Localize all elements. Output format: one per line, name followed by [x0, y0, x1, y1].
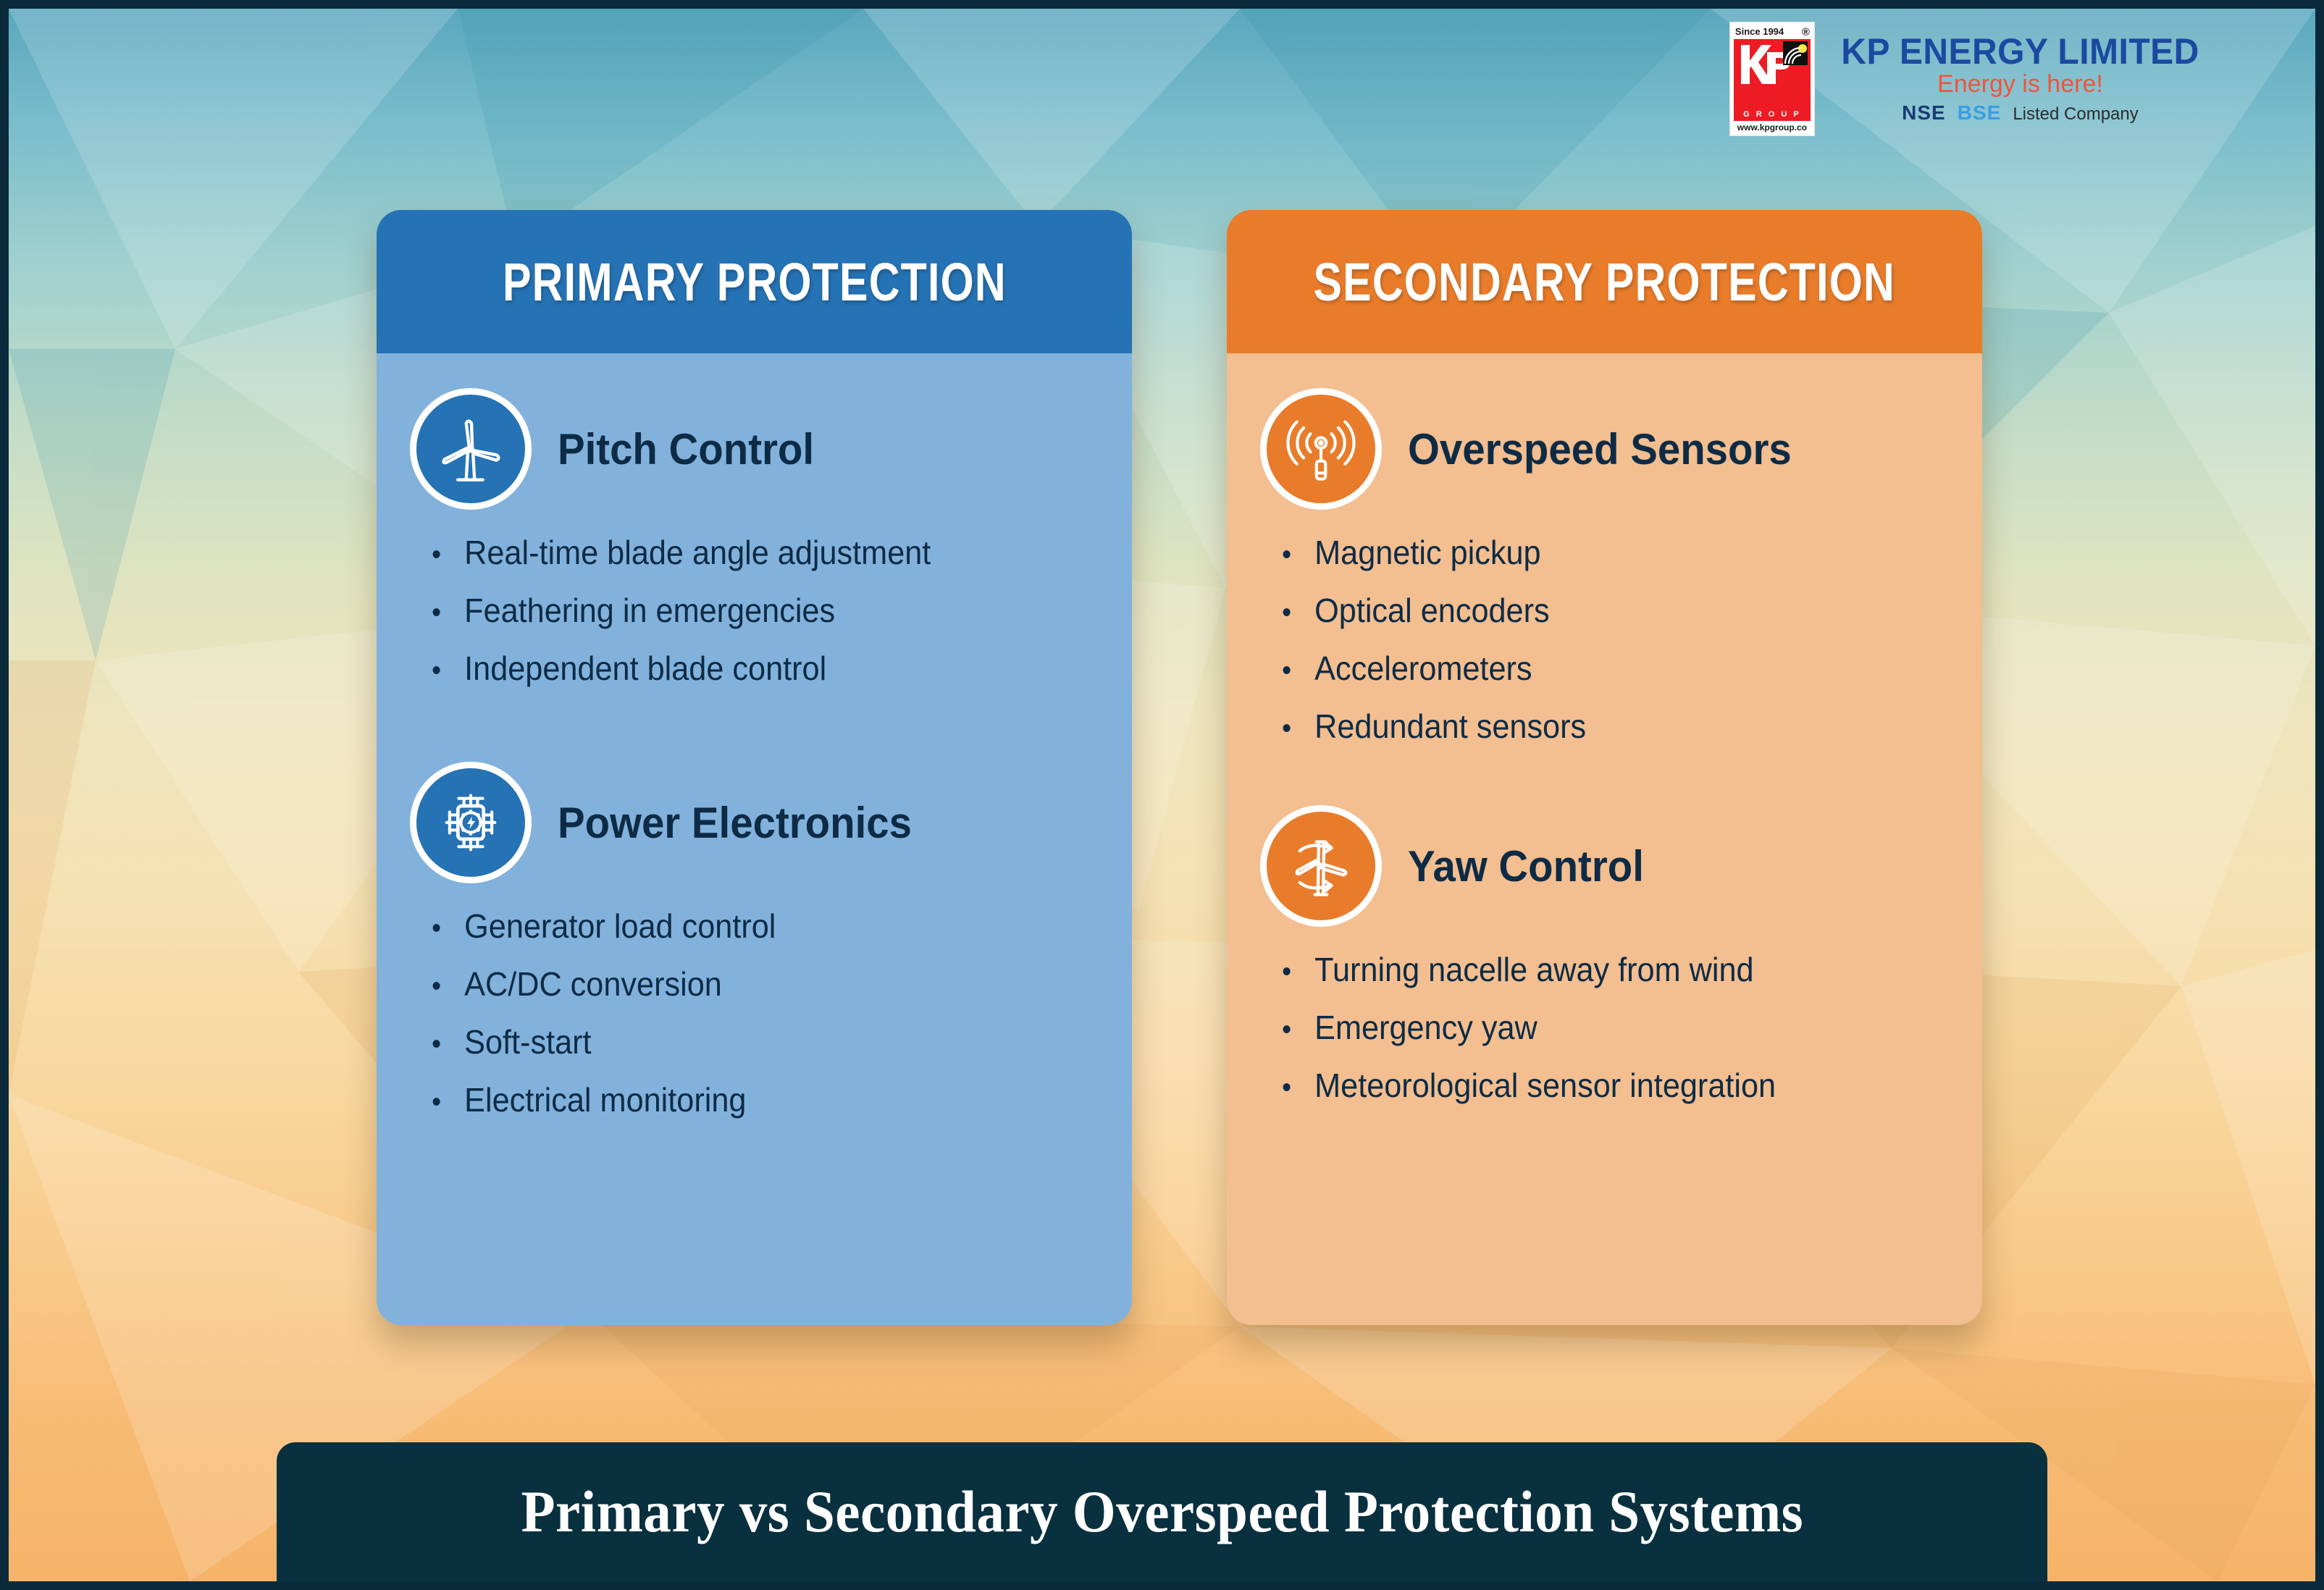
bullet-dot-icon: •	[1282, 957, 1291, 986]
bullet-dot-icon: •	[1282, 598, 1291, 627]
section-title-overspeed-sensors: Overspeed Sensors	[1408, 424, 1792, 474]
bse-label: BSE	[1958, 101, 2002, 125]
list-item: •Real-time blade angle adjustment	[432, 536, 1059, 569]
section-spacer	[1260, 767, 1949, 805]
microchip-power-icon	[410, 762, 532, 883]
card-header-title-primary: PRIMARY PROTECTION	[503, 251, 1007, 313]
card-body-primary: Pitch Control •Real-time blade angle adj…	[377, 353, 1132, 1116]
brand-logo-block: Since 1994 ®	[1729, 22, 2207, 136]
signal-sensor-icon	[1260, 388, 1382, 510]
bullet-dot-icon: •	[1282, 1073, 1291, 1102]
logo-website-text: www.kpgroup.co	[1734, 121, 1811, 132]
bullet-list-pitch-control: •Real-time blade angle adjustment •Feath…	[410, 536, 1099, 685]
list-item-label: Redundant sensors	[1314, 710, 1586, 743]
list-item: •Soft-start	[432, 1025, 1059, 1059]
wind-turbine-icon	[410, 388, 532, 510]
bullet-list-power-electronics: •Generator load control •AC/DC conversio…	[410, 909, 1099, 1116]
list-item: •Independent blade control	[432, 652, 1059, 685]
section-head-overspeed-sensors: Overspeed Sensors	[1260, 388, 1949, 510]
page-title: Primary vs Secondary Overspeed Protectio…	[521, 1478, 1803, 1546]
list-item-label: Electrical monitoring	[464, 1083, 746, 1116]
bullet-dot-icon: •	[432, 598, 441, 627]
bullet-dot-icon: •	[1282, 656, 1291, 685]
signal-wave-icon	[1783, 41, 1808, 65]
logo-red-panel	[1734, 39, 1811, 110]
section-yaw-control: Yaw Control •Turning nacelle away from w…	[1260, 805, 1949, 1102]
list-item: •AC/DC conversion	[432, 967, 1059, 1001]
bottom-title-banner: Primary vs Secondary Overspeed Protectio…	[277, 1442, 2047, 1581]
nse-label: NSE	[1902, 101, 1946, 125]
brand-text-block: KP ENERGY LIMITED Energy is here! NSE BS…	[1834, 33, 2207, 124]
bullet-dot-icon: •	[432, 540, 441, 569]
list-item-label: Accelerometers	[1314, 652, 1532, 685]
list-item: •Redundant sensors	[1282, 710, 1909, 743]
list-item: •Accelerometers	[1282, 652, 1909, 685]
list-item-label: Meteorological sensor integration	[1314, 1069, 1776, 1102]
list-item-label: Independent blade control	[464, 652, 826, 685]
section-head-pitch-control: Pitch Control	[410, 388, 1099, 510]
bullet-dot-icon: •	[432, 1088, 441, 1116]
section-head-yaw-control: Yaw Control	[1260, 805, 1949, 927]
card-header-secondary: SECONDARY PROTECTION	[1227, 210, 1982, 353]
list-item-label: Magnetic pickup	[1314, 536, 1540, 569]
section-pitch-control: Pitch Control •Real-time blade angle adj…	[410, 388, 1099, 685]
bullet-dot-icon: •	[432, 972, 441, 1001]
card-secondary-protection: SECONDARY PROTECTION	[1227, 210, 1982, 1325]
section-power-electronics: Power Electronics •Generator load contro…	[410, 762, 1099, 1116]
card-body-secondary: Overspeed Sensors •Magnetic pickup •Opti…	[1227, 353, 1982, 1102]
listed-company-label: Listed Company	[2013, 104, 2138, 125]
stock-listing-row: NSE BSE Listed Company	[1902, 101, 2139, 125]
section-overspeed-sensors: Overspeed Sensors •Magnetic pickup •Opti…	[1260, 388, 1949, 743]
bullet-dot-icon: •	[1282, 1015, 1291, 1044]
section-head-power-electronics: Power Electronics	[410, 762, 1099, 883]
list-item-label: Real-time blade angle adjustment	[464, 536, 931, 569]
kp-group-logo-mark: Since 1994 ®	[1729, 22, 1815, 136]
bullet-dot-icon: •	[1282, 714, 1291, 743]
list-item: •Turning nacelle away from wind	[1282, 953, 1909, 986]
section-title-pitch-control: Pitch Control	[558, 424, 814, 474]
list-item-label: AC/DC conversion	[464, 967, 722, 1001]
list-item: •Generator load control	[432, 909, 1059, 943]
list-item-label: Soft-start	[464, 1025, 591, 1059]
list-item-label: Turning nacelle away from wind	[1314, 953, 1753, 986]
bullet-list-overspeed-sensors: •Magnetic pickup •Optical encoders •Acce…	[1260, 536, 1949, 743]
logo-since-text: Since 1994	[1735, 27, 1784, 36]
list-item: •Magnetic pickup	[1282, 536, 1909, 569]
list-item: •Electrical monitoring	[432, 1083, 1059, 1116]
list-item-label: Emergency yaw	[1314, 1011, 1538, 1044]
list-item: •Optical encoders	[1282, 594, 1909, 627]
company-tagline: Energy is here!	[1937, 71, 2103, 98]
card-primary-protection: PRIMARY PROTECTION	[377, 210, 1132, 1325]
logo-group-text: G R O U P	[1734, 110, 1811, 121]
bullet-dot-icon: •	[432, 1030, 441, 1059]
yaw-rotation-icon	[1260, 805, 1382, 927]
bullet-dot-icon: •	[432, 656, 441, 685]
list-item: •Meteorological sensor integration	[1282, 1069, 1909, 1102]
list-item-label: Feathering in emergencies	[464, 594, 835, 627]
section-title-yaw-control: Yaw Control	[1408, 841, 1644, 891]
list-item: •Emergency yaw	[1282, 1011, 1909, 1044]
bullet-dot-icon: •	[1282, 540, 1291, 569]
list-item: •Feathering in emergencies	[432, 594, 1059, 627]
section-title-power-electronics: Power Electronics	[558, 798, 912, 848]
list-item-label: Optical encoders	[1314, 594, 1549, 627]
registered-trademark-icon: ®	[1802, 27, 1810, 38]
poster-frame: Since 1994 ®	[0, 0, 2324, 1590]
company-name: KP ENERGY LIMITED	[1841, 33, 2199, 70]
bullet-list-yaw-control: •Turning nacelle away from wind •Emergen…	[1260, 953, 1949, 1102]
logo-since-row: Since 1994 ®	[1734, 26, 1811, 39]
section-spacer	[410, 710, 1099, 762]
poster-canvas: Since 1994 ®	[9, 9, 2315, 1581]
list-item-label: Generator load control	[464, 909, 776, 943]
card-header-title-secondary: SECONDARY PROTECTION	[1314, 251, 1896, 313]
bullet-dot-icon: •	[432, 914, 441, 943]
card-header-primary: PRIMARY PROTECTION	[377, 210, 1132, 353]
